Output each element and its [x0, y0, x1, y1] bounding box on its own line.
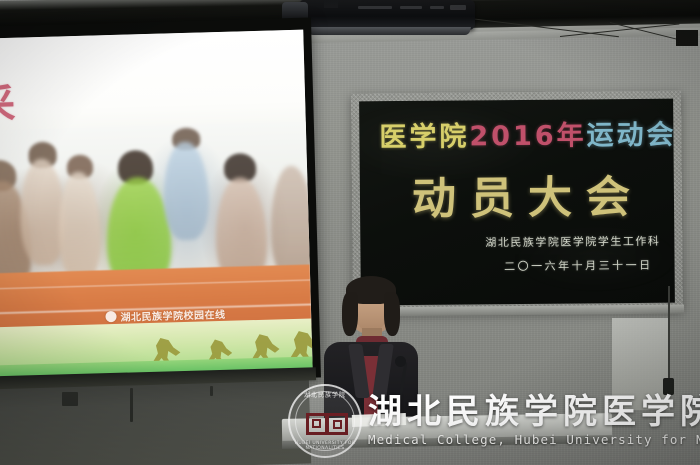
watermark-text-block: 湖北民族学院医学院 Medical College, Hubei Univers… [368, 395, 700, 447]
runner-silhouette-2 [206, 339, 232, 365]
screenshot-root: 采 [0, 0, 700, 465]
blackboard-signature: 湖北民族学院医学院学生工作科 [485, 233, 660, 251]
projector-mount [309, 27, 471, 35]
blackboard-date: 二〇一六年十月三十一日 [504, 257, 653, 274]
watermark-chinese: 湖北民族学院医学院 [368, 395, 700, 431]
projector-vent-1 [358, 6, 392, 9]
runner-silhouette-4 [289, 330, 312, 362]
blackboard-headline-part1: 医学院 [379, 121, 469, 153]
wall-junction-box [676, 30, 698, 46]
projection-screen: 采 [0, 30, 313, 379]
wall-hook-2 [130, 388, 133, 422]
photo-person-3 [57, 171, 102, 281]
blackboard-headline-part3: 运动会 [586, 120, 674, 152]
photo-person-5 [162, 141, 210, 241]
blackboard-headline: 医学院2016年运动会 [379, 113, 675, 155]
seal-chinese-text: 湖北民族学院 [290, 390, 360, 399]
microphone-icon [395, 356, 406, 367]
wall-hook-1 [62, 392, 78, 406]
projector-label [450, 5, 466, 10]
wall-hook-3 [210, 386, 213, 396]
projected-slide: 采 [0, 30, 313, 379]
watermark-overlay: 湖北民族学院 HUBEI UNIVERSITY FOR NATIONALITIE… [288, 382, 700, 460]
track-lane-line-1 [0, 279, 310, 289]
projector-vent-3 [430, 6, 444, 9]
projector-vent-2 [400, 6, 422, 9]
blackboard-main-title: 动员大会 [412, 161, 645, 227]
watermark-english: Medical College, Hubei University for Na… [368, 432, 700, 447]
projector-bracket [324, 0, 338, 8]
seal-square-right [326, 413, 348, 435]
runner-silhouette-3 [251, 334, 281, 364]
speaker-hair-left [342, 292, 358, 336]
hanging-cord [668, 286, 670, 382]
slide-title-character: 采 [0, 72, 18, 131]
seal-english-text: HUBEI UNIVERSITY FOR NATIONALITIES [290, 441, 360, 451]
university-seal-logo: 湖北民族学院 HUBEI UNIVERSITY FOR NATIONALITIE… [288, 384, 362, 458]
blackboard-headline-part2: 2016年 [469, 120, 586, 152]
speaker-hair-right [384, 292, 400, 336]
blackboard: 医学院2016年运动会 动员大会 湖北民族学院医学院学生工作科 二〇一六年十月三… [359, 99, 675, 306]
runner-silhouette-1 [152, 337, 182, 366]
seal-square-left [306, 413, 328, 435]
slide-watermark-logo-icon [105, 311, 116, 322]
seal-emblem-icon [305, 406, 345, 436]
